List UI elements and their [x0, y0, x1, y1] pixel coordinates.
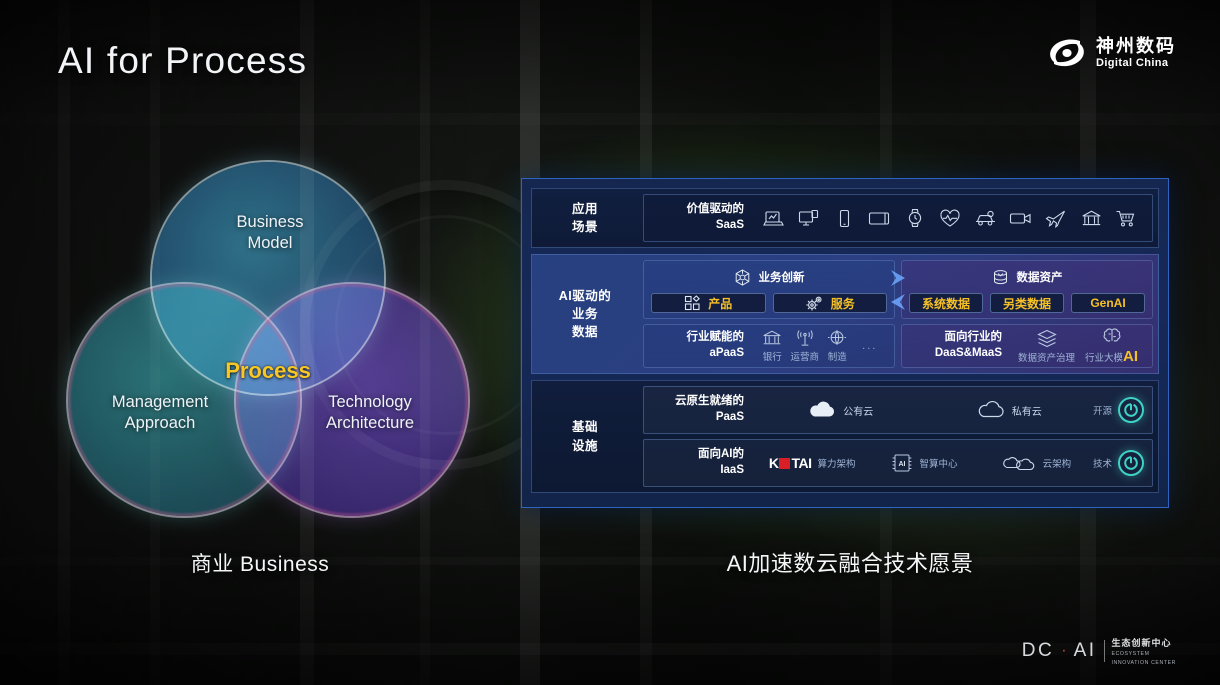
venn-label-management: Management Approach: [80, 392, 240, 433]
laptop-chart-icon: [763, 209, 784, 228]
slide-canvas: AI for Process 神州数码 Digital China Busine…: [0, 0, 1220, 685]
icon-label-ai-compute-center: 智算中心: [919, 456, 957, 470]
icon-cell-shopping-cart[interactable]: [1109, 209, 1144, 228]
row-industry-daas-maas: 面向行业的 DaaS&MaaS 数据资产治理: [901, 324, 1153, 368]
band-label-ai-line2: 业务: [559, 305, 612, 323]
tablet-icon: [868, 209, 890, 228]
antenna-icon: [795, 329, 815, 347]
ai-chip-icon: AI: [891, 452, 913, 474]
kuntai-logo-k: K: [769, 455, 779, 471]
more-dots: ...: [858, 340, 881, 352]
brand-logo: 神州数码 Digital China: [1047, 36, 1176, 70]
icon-label-manufacturing: 制造: [828, 349, 847, 363]
brand-name-cn: 神州数码: [1096, 37, 1176, 55]
architecture-panel: 应用 场景 价值驱动的 SaaS: [521, 178, 1169, 508]
head-label-business-innovation: 业务创新: [759, 269, 805, 285]
venn-label-business-line2: Model: [210, 233, 330, 254]
row-title-paas-line1: 云原生就绪的: [652, 394, 744, 410]
icon-cell-compute-architecture[interactable]: K TAI 算力架构: [756, 455, 868, 471]
band-ai-driven-business-data: AI驱动的 业务 数据 业务创新: [531, 254, 1159, 374]
page-title: AI for Process: [58, 40, 307, 82]
apaas-icon-row: 银行 运营商: [756, 329, 886, 363]
icon-label-telecom: 运营商: [790, 349, 819, 363]
icon-cell-bank-industry[interactable]: 银行: [756, 329, 789, 363]
tag-label-service: 服务: [831, 295, 855, 312]
smartwatch-icon: [906, 208, 924, 228]
column-business-innovation: 业务创新 产品: [643, 260, 895, 319]
icon-cell-ai-compute-center[interactable]: AI 智算中心: [868, 452, 980, 474]
footer-dc: DC: [1022, 640, 1054, 662]
band-label-ai-line3: 数据: [559, 323, 612, 341]
open-source-icon: [1118, 450, 1144, 476]
icon-label-technology: 技术: [1093, 456, 1112, 470]
icon-cell-data-governance[interactable]: 数据资产治理: [1014, 329, 1079, 364]
kuntai-logo-tai: TAI: [791, 455, 811, 471]
icon-label-ai-suffix: AI: [1123, 348, 1138, 365]
row-title-daas: 面向行业的 DaaS&MaaS: [910, 330, 1002, 361]
head-data-assets: 数据资产: [909, 266, 1145, 288]
band-label-application-line1: 应用: [572, 200, 598, 218]
band-body-application: 价值驱动的 SaaS: [638, 189, 1158, 247]
icon-label-public-cloud: 公有云: [843, 403, 873, 418]
blocks-icon: [684, 295, 701, 311]
icon-cell-watch[interactable]: [897, 208, 932, 228]
tag-row-business-innovation: 产品 服务: [651, 293, 887, 313]
band-body-infrastructure: 云原生就绪的 PaaS 公有云: [638, 381, 1158, 492]
row-title-iaas-line1: 面向AI的: [652, 447, 744, 463]
row-industry-apaas: 行业赋能的 aPaaS 银行: [643, 324, 895, 368]
row-title-paas: 云原生就绪的 PaaS: [652, 394, 744, 425]
band-label-ai-line1: AI驱动的: [559, 287, 612, 305]
venn-label-business-line1: Business: [210, 212, 330, 233]
bank-icon: [1081, 209, 1102, 228]
footer-divider: [1104, 640, 1105, 662]
gears-icon: [805, 295, 824, 312]
iaas-icon-row: K TAI 算力架构 AI 智算中心: [756, 450, 1144, 476]
footer-name-en-line2: INNOVATION CENTER: [1112, 660, 1176, 667]
venn-label-management-line1: Management: [80, 392, 240, 413]
row-value-driven-saas: 价值驱动的 SaaS: [643, 194, 1153, 242]
icon-cell-airplane[interactable]: [1038, 209, 1073, 228]
footer-logo: DC · AI 生态创新中心 ECOSYSTEM INNOVATION CENT…: [1022, 636, 1176, 667]
icon-label-industry-text: 行业大模: [1085, 353, 1123, 364]
venn-diagram: Business Model Management Approach Techn…: [60, 160, 460, 520]
icon-cell-cloud-architecture[interactable]: 云架构: [981, 453, 1093, 473]
footer-ai: AI: [1074, 640, 1097, 662]
shopping-cart-icon: [1115, 209, 1137, 228]
gear-globe-icon: [827, 329, 847, 347]
video-camera-icon: [1009, 209, 1032, 228]
venn-label-management-line2: Approach: [80, 413, 240, 434]
band-label-application-line2: 场景: [572, 218, 598, 236]
daas-icon-row: 数据资产治理 行业大模AI: [1014, 327, 1144, 365]
band-label-application: 应用 场景: [532, 189, 638, 247]
footer-dot: ·: [1061, 643, 1066, 659]
airplane-icon: [1045, 209, 1066, 228]
kuntai-logo: K TAI: [769, 455, 812, 471]
band-label-infrastructure: 基础 设施: [532, 381, 638, 492]
row-title-iaas: 面向AI的 IaaS: [652, 447, 744, 478]
venn-label-technology: Technology Architecture: [290, 392, 450, 433]
desktop-monitor-icon: [798, 209, 819, 228]
car-icon: [974, 209, 997, 228]
ai-lower-row: 行业赋能的 aPaaS 银行: [643, 324, 1153, 368]
head-business-innovation: 业务创新: [651, 266, 887, 288]
row-title-iaas-line2: IaaS: [652, 463, 744, 479]
ai-columns: 业务创新 产品: [643, 260, 1153, 319]
kuntai-logo-square: [779, 458, 790, 469]
smartphone-icon: [838, 209, 851, 228]
venn-label-technology-line1: Technology: [290, 392, 450, 413]
band-application-scenarios: 应用 场景 价值驱动的 SaaS: [531, 188, 1159, 248]
icon-cell-more: ...: [854, 340, 887, 352]
icon-label-private-cloud: 私有云: [1012, 403, 1042, 418]
bank-icon: [762, 329, 782, 347]
icon-cell-telecom[interactable]: 运营商: [789, 329, 822, 363]
venn-label-technology-line2: Architecture: [290, 413, 450, 434]
row-title-paas-line2: PaaS: [652, 410, 744, 426]
tag-label-product: 产品: [708, 295, 732, 312]
tag-system-data[interactable]: 系统数据: [909, 293, 983, 313]
icon-label-open-source: 开源: [1093, 403, 1112, 417]
head-label-data-assets: 数据资产: [1017, 269, 1063, 285]
icon-label-cloud-architecture: 云架构: [1043, 456, 1072, 470]
band-label-ai-driven: AI驱动的 业务 数据: [532, 255, 638, 373]
icon-cell-industry-large-model[interactable]: 行业大模AI: [1079, 327, 1144, 365]
icon-label-compute-architecture: 算力架构: [817, 456, 855, 470]
heartbeat-icon: [939, 209, 961, 228]
svg-text:AI: AI: [899, 461, 906, 468]
icon-cell-car[interactable]: [968, 209, 1003, 228]
tag-row-data-assets: 系统数据 另类数据 GenAI: [909, 293, 1145, 313]
band-label-inf-line1: 基础: [572, 418, 598, 436]
venn-label-business: Business Model: [210, 212, 330, 253]
band-infrastructure: 基础 设施 云原生就绪的 PaaS 公有云: [531, 380, 1159, 493]
polygon-network-icon: [734, 269, 751, 286]
column-data-assets: 数据资产 系统数据 另类数据 GenAI: [901, 260, 1153, 319]
icon-label-data-governance: 数据资产治理: [1018, 350, 1075, 364]
icon-cell-desktop[interactable]: [791, 209, 826, 228]
icon-cell-technology[interactable]: 技术: [1093, 450, 1144, 476]
row-cloud-native-paas: 云原生就绪的 PaaS 公有云: [643, 386, 1153, 434]
saas-icon-row: [756, 208, 1144, 228]
cloud-filled-icon: [807, 400, 837, 420]
tag-genai[interactable]: GenAI: [1071, 293, 1145, 313]
row-title-saas-line1: 价值驱动的: [652, 202, 744, 218]
icon-cell-video-camera[interactable]: [1003, 209, 1038, 228]
row-title-daas-line2: DaaS&MaaS: [910, 346, 1002, 362]
icon-cell-bank[interactable]: [1073, 209, 1108, 228]
tag-product[interactable]: 产品: [651, 293, 766, 313]
band-body-ai-driven: 业务创新 产品: [638, 255, 1158, 373]
row-ai-iaas: 面向AI的 IaaS K TAI 算力架构: [643, 439, 1153, 487]
row-title-apaas-line2: aPaaS: [652, 346, 744, 362]
footer-name-cn: 生态创新中心: [1112, 636, 1176, 649]
icon-cell-public-cloud[interactable]: 公有云: [756, 400, 925, 420]
cloud-outline-icon: [976, 400, 1006, 420]
brand-name-en: Digital China: [1096, 58, 1176, 69]
swirl-galaxy-icon: [1047, 36, 1087, 70]
row-title-saas: 价值驱动的 SaaS: [652, 202, 744, 233]
tag-service[interactable]: 服务: [773, 293, 888, 313]
row-title-saas-line2: SaaS: [652, 218, 744, 234]
layered-cube-icon: [1036, 329, 1058, 348]
band-label-inf-line2: 设施: [572, 437, 598, 455]
icon-cell-phone[interactable]: [827, 209, 862, 228]
icon-cell-open-source[interactable]: 开源: [1093, 397, 1144, 423]
icon-cell-tablet[interactable]: [862, 209, 897, 228]
row-title-apaas: 行业赋能的 aPaaS: [652, 330, 744, 361]
database-icon: [992, 269, 1009, 286]
caption-right: AI加速数云融合技术愿景: [700, 546, 1000, 578]
row-title-apaas-line1: 行业赋能的: [652, 330, 744, 346]
tag-alternative-data[interactable]: 另类数据: [990, 293, 1064, 313]
icon-cell-private-cloud[interactable]: 私有云: [925, 400, 1094, 420]
caption-left: 商业 Business: [148, 548, 372, 578]
multi-cloud-icon: [1003, 453, 1037, 473]
paas-icon-row: 公有云 私有云 开源: [756, 397, 1144, 423]
icon-label-bank: 银行: [763, 349, 782, 363]
brain-icon: [1101, 327, 1123, 346]
row-title-daas-line1: 面向行业的: [910, 330, 1002, 346]
icon-cell-laptop[interactable]: [756, 209, 791, 228]
open-source-icon: [1118, 397, 1144, 423]
venn-label-process: Process: [198, 358, 338, 384]
icon-cell-heartbeat[interactable]: [932, 209, 967, 228]
footer-name-en-line1: ECOSYSTEM: [1112, 651, 1176, 658]
icon-label-industry-large-model: 行业大模AI: [1085, 348, 1138, 365]
icon-cell-manufacturing[interactable]: 制造: [821, 329, 854, 363]
